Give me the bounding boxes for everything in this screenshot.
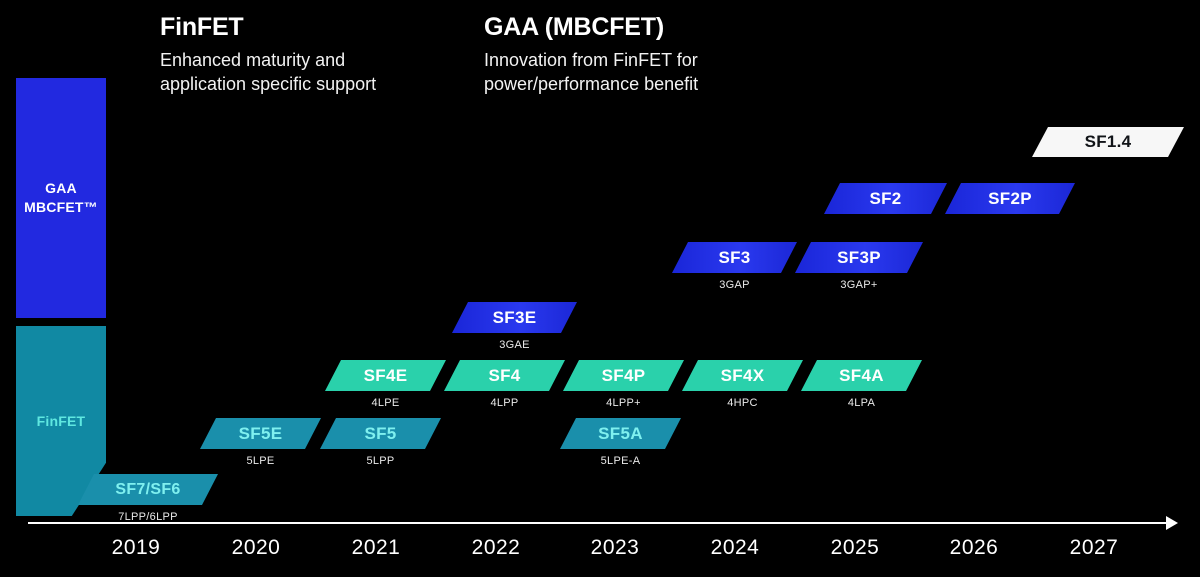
node-sub-sf3e: 3GAE bbox=[452, 339, 577, 351]
node-sub-sf4: 4LPP bbox=[444, 397, 565, 409]
axis-year-2023: 2023 bbox=[555, 536, 675, 560]
roadmap-chart: FinFET Enhanced maturity and application… bbox=[0, 0, 1200, 577]
node-sub-sf4a: 4LPA bbox=[801, 397, 922, 409]
axis-year-2025: 2025 bbox=[795, 536, 915, 560]
node-sf4x[interactable]: SF4X 4HPC bbox=[682, 360, 803, 391]
node-sf5[interactable]: SF5 5LPP bbox=[320, 418, 441, 449]
header-gaa-title: GAA (MBCFET) bbox=[484, 12, 698, 42]
node-bar-sf4e: SF4E bbox=[325, 360, 446, 391]
axis-year-2022: 2022 bbox=[436, 536, 556, 560]
header-gaa-subtitle: Innovation from FinFET for power/perform… bbox=[484, 48, 698, 96]
node-sub-sf4x: 4HPC bbox=[682, 397, 803, 409]
axis-year-2026: 2026 bbox=[914, 536, 1034, 560]
node-sf3[interactable]: SF3 3GAP bbox=[672, 242, 797, 273]
node-bar-sf7-sf6: SF7/SF6 bbox=[78, 474, 218, 505]
node-bar-sf3e: SF3E bbox=[452, 302, 577, 333]
node-sub-sf4e: 4LPE bbox=[325, 397, 446, 409]
header-gaa-subtitle-line1: Innovation from FinFET for bbox=[484, 50, 698, 70]
header-finfet-subtitle: Enhanced maturity and application specif… bbox=[160, 48, 376, 96]
timeline-arrow-icon bbox=[1166, 516, 1178, 530]
header-finfet-subtitle-line2: application specific support bbox=[160, 74, 376, 94]
node-bar-sf1-4: SF1.4 bbox=[1032, 127, 1184, 157]
node-bar-sf2p: SF2P bbox=[945, 183, 1075, 214]
node-bar-sf3p: SF3P bbox=[795, 242, 923, 273]
axis-year-2024: 2024 bbox=[675, 536, 795, 560]
category-block-gaa: GAA MBCFET™ bbox=[16, 78, 106, 318]
node-bar-sf4: SF4 bbox=[444, 360, 565, 391]
node-sub-sf4p: 4LPP+ bbox=[563, 397, 684, 409]
node-sub-sf3: 3GAP bbox=[672, 279, 797, 291]
node-sf5a[interactable]: SF5A 5LPE-A bbox=[560, 418, 681, 449]
header-finfet-subtitle-line1: Enhanced maturity and bbox=[160, 50, 345, 70]
node-sf4a[interactable]: SF4A 4LPA bbox=[801, 360, 922, 391]
axis-year-2020: 2020 bbox=[196, 536, 316, 560]
node-sf4[interactable]: SF4 4LPP bbox=[444, 360, 565, 391]
axis-year-2019: 2019 bbox=[76, 536, 196, 560]
node-bar-sf4p: SF4P bbox=[563, 360, 684, 391]
category-label-gaa-line1: GAA bbox=[45, 180, 77, 196]
node-sf2p[interactable]: SF2P bbox=[945, 183, 1075, 214]
timeline-axis bbox=[28, 522, 1171, 524]
header-gaa: GAA (MBCFET) Innovation from FinFET for … bbox=[484, 12, 698, 96]
node-bar-sf4a: SF4A bbox=[801, 360, 922, 391]
node-sf4e[interactable]: SF4E 4LPE bbox=[325, 360, 446, 391]
header-gaa-subtitle-line2: power/performance benefit bbox=[484, 74, 698, 94]
node-sf3p[interactable]: SF3P 3GAP+ bbox=[795, 242, 923, 273]
node-bar-sf5a: SF5A bbox=[560, 418, 681, 449]
header-finfet-title: FinFET bbox=[160, 12, 376, 42]
node-bar-sf5: SF5 bbox=[320, 418, 441, 449]
category-label-gaa-line2: MBCFET™ bbox=[24, 199, 98, 215]
node-sf5e[interactable]: SF5E 5LPE bbox=[200, 418, 321, 449]
header-finfet: FinFET Enhanced maturity and application… bbox=[160, 12, 376, 96]
node-sub-sf3p: 3GAP+ bbox=[795, 279, 923, 291]
axis-year-2027: 2027 bbox=[1034, 536, 1154, 560]
node-sf3e[interactable]: SF3E 3GAE bbox=[452, 302, 577, 333]
node-sf4p[interactable]: SF4P 4LPP+ bbox=[563, 360, 684, 391]
node-bar-sf5e: SF5E bbox=[200, 418, 321, 449]
node-sub-sf5a: 5LPE-A bbox=[560, 455, 681, 467]
node-sub-sf5: 5LPP bbox=[320, 455, 441, 467]
axis-year-2021: 2021 bbox=[316, 536, 436, 560]
node-sf7-sf6[interactable]: SF7/SF6 7LPP/6LPP bbox=[78, 474, 218, 505]
node-sub-sf5e: 5LPE bbox=[200, 455, 321, 467]
node-sf1-4[interactable]: SF1.4 bbox=[1032, 127, 1184, 157]
category-label-gaa: GAA MBCFET™ bbox=[24, 179, 98, 217]
node-bar-sf3: SF3 bbox=[672, 242, 797, 273]
node-sf2[interactable]: SF2 bbox=[824, 183, 947, 214]
category-label-finfet: FinFET bbox=[37, 412, 86, 431]
node-bar-sf4x: SF4X bbox=[682, 360, 803, 391]
node-bar-sf2: SF2 bbox=[824, 183, 947, 214]
